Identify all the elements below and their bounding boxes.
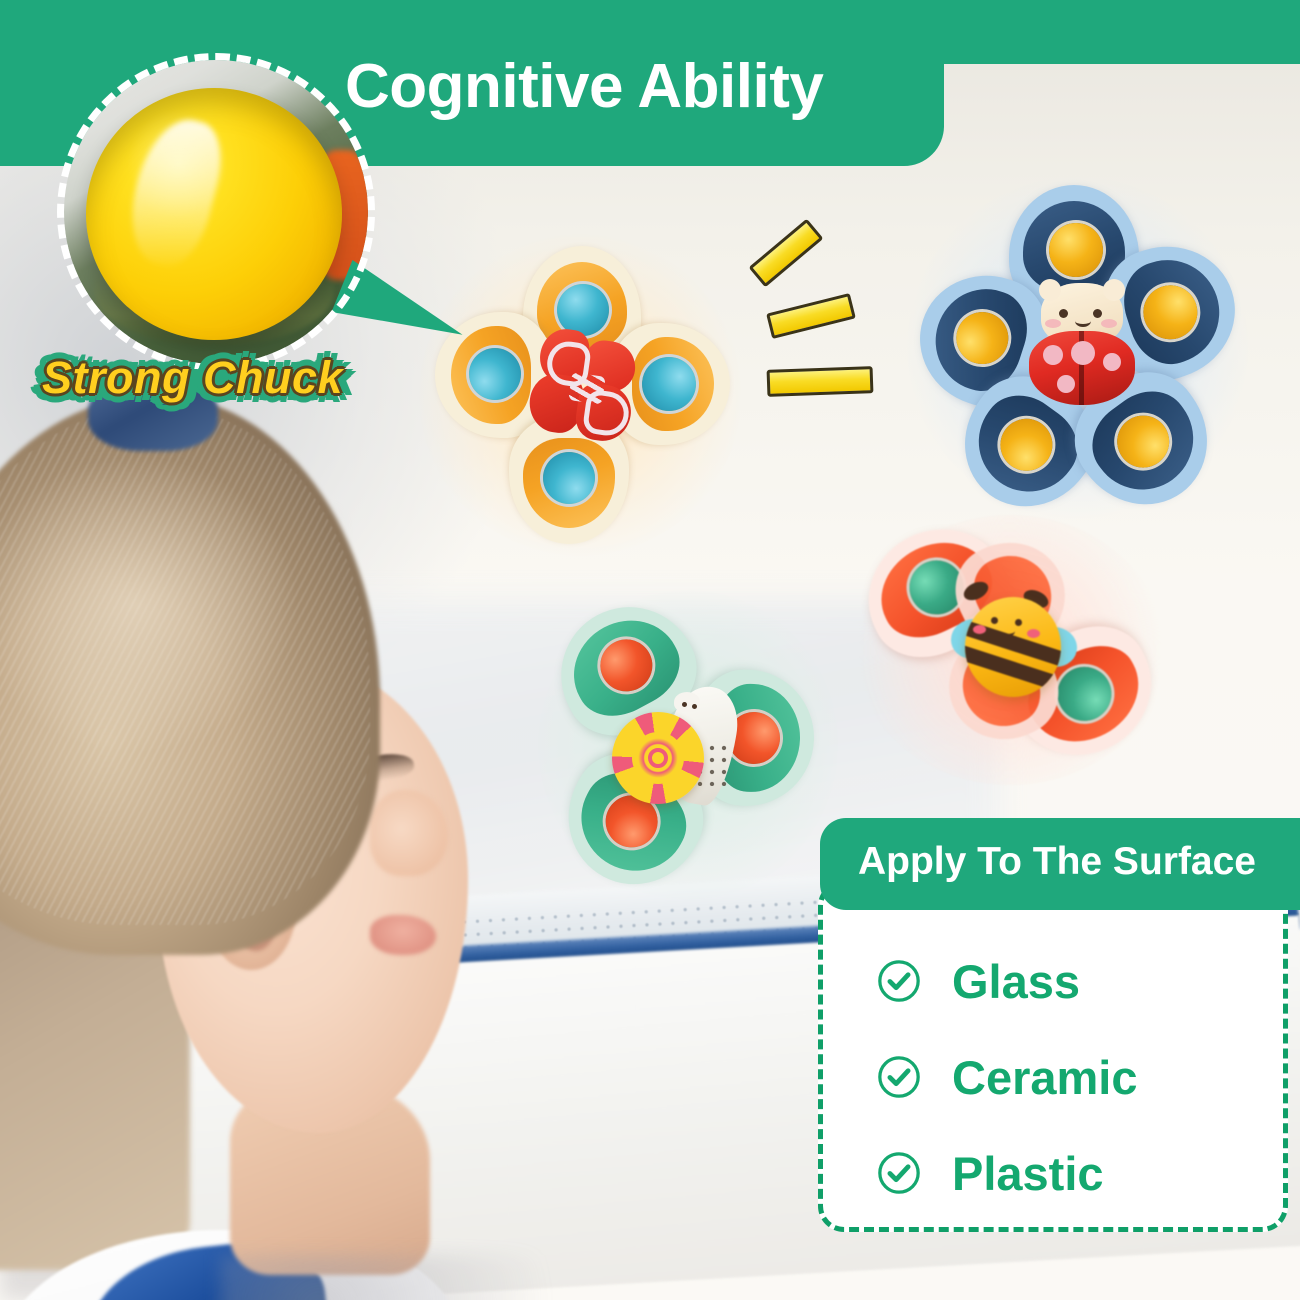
magnifier-dashed-ring bbox=[57, 53, 375, 371]
check-circle-icon bbox=[876, 958, 922, 1004]
list-item-label: Plastic bbox=[952, 1150, 1104, 1197]
bee-icon bbox=[951, 583, 1077, 709]
snail-icon bbox=[612, 686, 752, 810]
apply-to-surface-card: Apply To The Surface Glass Ceramic bbox=[818, 818, 1296, 1238]
surface-list: Glass Ceramic Plastic bbox=[876, 933, 1276, 1221]
check-circle-icon bbox=[876, 1054, 922, 1100]
spinner-butterfly[interactable] bbox=[425, 240, 735, 550]
list-item[interactable]: Plastic bbox=[876, 1125, 1276, 1221]
ladybug-icon bbox=[1023, 283, 1141, 405]
petal-ball bbox=[642, 357, 696, 411]
surface-card-title: Apply To The Surface bbox=[858, 840, 1256, 884]
suction-cup-magnifier bbox=[57, 53, 375, 371]
spinner-ladybug[interactable] bbox=[915, 185, 1240, 510]
butterfly-icon bbox=[523, 325, 646, 451]
list-item-label: Ceramic bbox=[952, 1054, 1138, 1101]
list-item[interactable]: Glass bbox=[876, 933, 1276, 1029]
spinner-snail[interactable] bbox=[548, 600, 828, 890]
petal-ball bbox=[543, 452, 595, 504]
child-lips bbox=[370, 915, 436, 955]
page-title: Cognitive Ability bbox=[345, 56, 925, 118]
shoulder-shadow bbox=[220, 1255, 550, 1300]
spinner-bee[interactable] bbox=[865, 525, 1155, 775]
motion-line-3 bbox=[767, 366, 874, 397]
list-item-label: Glass bbox=[952, 958, 1080, 1005]
petal-ball bbox=[469, 348, 521, 400]
list-item[interactable]: Ceramic bbox=[876, 1029, 1276, 1125]
check-circle-icon bbox=[876, 1150, 922, 1196]
product-feature-image: Cognitive Ability Strong Chuck bbox=[0, 0, 1300, 1300]
strong-chuck-badge: Strong Chuck bbox=[42, 352, 343, 404]
surface-card-header: Apply To The Surface bbox=[820, 818, 1300, 910]
